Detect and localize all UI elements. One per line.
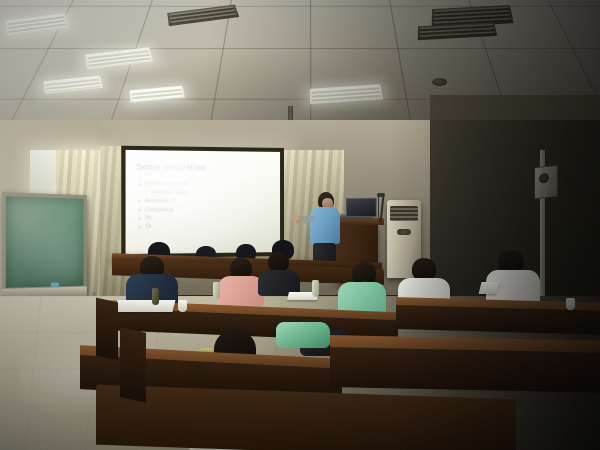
chalk-piece [51,282,59,286]
slide-title: Some motivation [136,161,274,172]
water-bottle [152,288,159,305]
smoke-detector-icon [432,78,447,86]
chalkboard-smudges [6,196,84,288]
water-bottle [213,282,220,299]
chalkboard-surface [6,196,84,288]
air-conditioner-vent [390,206,418,221]
lecture-hall-photo: Some motivation Improvements in electron… [0,0,600,450]
water-bottle [312,280,319,297]
air-conditioner-panel [397,229,411,235]
attendee-head [268,252,289,272]
cable [378,196,393,226]
presenter-torso [310,207,340,244]
desk-end-panel [120,327,146,403]
paper-on-desk [115,300,176,312]
handheld-paper [479,282,500,294]
desk-row-front-right-front [330,347,600,393]
green-jacket [276,322,330,348]
slide-bullet: Th [138,222,274,231]
paper-cup [178,300,187,312]
paper-cup [566,298,575,310]
chalkboard [2,192,87,300]
wall-speaker [534,165,558,200]
slide-bullet-list: Improvements in electron beam Accuracy o… [138,180,274,231]
laptop-screen [346,198,377,217]
presenter-hand [291,214,299,221]
projection-screen: Some motivation Improvements in electron… [121,146,284,259]
desk-end-panel [96,298,118,361]
slide-bullet: electron beam [138,189,274,198]
slide-bullet: Accuracy of [138,197,274,206]
screen-surface: Some motivation Improvements in electron… [126,150,281,254]
